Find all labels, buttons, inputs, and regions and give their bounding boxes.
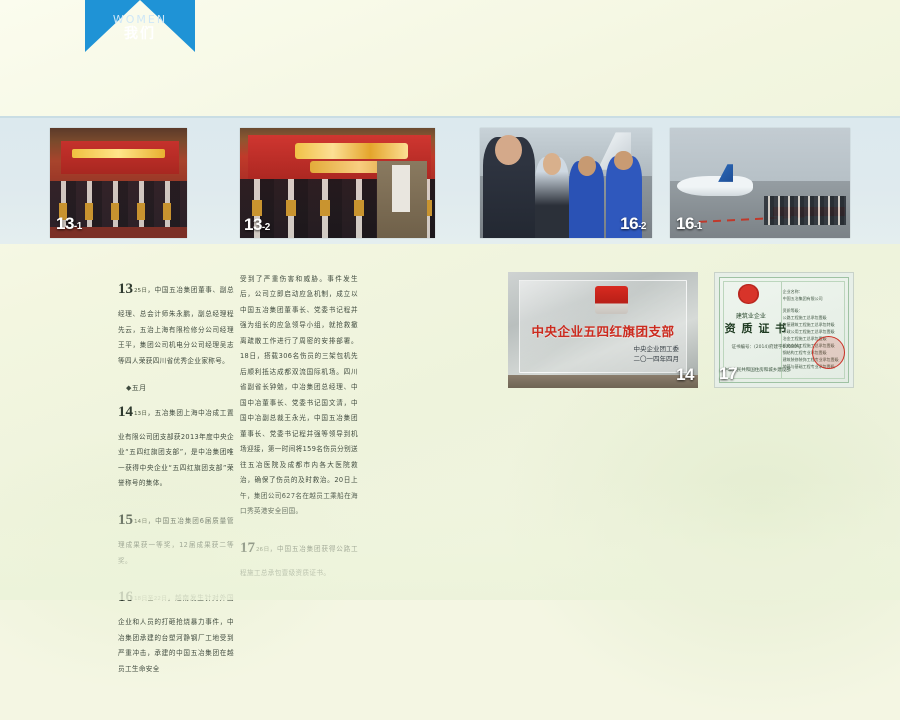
entry-day-suffix: 14日 (134, 519, 148, 525)
photo-airport-tarmac: 16-1 (670, 128, 850, 238)
national-emblem-icon (738, 284, 759, 303)
certificate-company-label: 企业名称： (783, 288, 846, 295)
photo-honor-plaque: 中央企业五四红旗团支部 中央企业团工委 二〇一四年四月 14 (508, 272, 698, 388)
entry-body-text: ，中国五冶集团董事、副总经理、总会计师朱永鹏，副总经理程先云，五治上海有限检修分… (118, 286, 234, 365)
entry-paragraph: 1413日，五冶集团上海中冶成工置业有限公司团支部获2013年度中央企业“五四红… (118, 395, 234, 492)
entry-day-number: 15 (118, 512, 133, 528)
banner-text-group: WOMEN 我们 (85, 14, 195, 41)
photo2-gold-headline (295, 143, 408, 158)
entry-day-number: 14 (118, 404, 133, 420)
entry-day-suffix: 26日 (256, 547, 270, 553)
photo1-red-backdrop (61, 141, 179, 174)
plaque-youth-league-emblem (595, 286, 627, 314)
certificate-red-stamp (812, 336, 845, 369)
plaque-issuer-text: 中央企业团工委 二〇一四年四月 (634, 345, 680, 365)
diary-entry: 受到了严重伤害和威胁。事件发生后，公司立即启动应急机制，成立以中国五冶集团董事长… (240, 272, 358, 520)
photo4-sky (670, 128, 850, 183)
photo-caption-16-2: 16-2 (620, 214, 646, 234)
entry-body-text: 受到了严重伤害和威胁。事件发生后，公司立即启动应急机制，成立以中国五冶集团董事长… (240, 275, 358, 515)
entry-day-suffix: 18日至22日 (134, 596, 168, 602)
certificate-grade-label: 资质等级： (783, 307, 846, 314)
entry-paragraph: 受到了严重伤害和威胁。事件发生后，公司立即启动应急机制，成立以中国五冶集团董事长… (240, 272, 358, 520)
diary-entry: 1618日至22日，越南发生针对外国企业和人员的打砸抢烧暴力事件，中冶集团承建的… (118, 580, 234, 677)
photo2-foreground-shirt (392, 165, 410, 211)
photo-caption-13-2: 13-2 (244, 215, 270, 235)
photo-caption-14: 14 (676, 365, 694, 385)
photo3-person-official (535, 157, 569, 238)
diary-entry: 1325日，中国五冶集团董事、副总经理、总会计师朱永鹏，副总经理程先云，五治上海… (118, 272, 234, 369)
photo-airport-greeting: 16-2 (480, 128, 652, 238)
certificate-grade-line: 房屋建筑工程施工总承包特级 (783, 321, 846, 328)
entry-body-text: ，五冶集团上海中冶成工置业有限公司团支部获2013年度中央企业“五四红旗团支部”… (118, 409, 234, 488)
entry-day-suffix: 13日 (134, 411, 147, 417)
photo-award-ceremony-2: 13-2 (240, 128, 435, 238)
entry-day-number: 16 (118, 589, 133, 605)
diary-entry: 1514日，中国五冶集团6届质量管理成果获一等奖，12届成果获二等奖。 (118, 503, 234, 569)
entry-day-suffix: 25日 (134, 288, 147, 294)
photo-award-ceremony-1: 13-1 (50, 128, 187, 238)
entry-body-text: ，越南发生针对外国企业和人员的打砸抢烧暴力事件，中冶集团承建的台塑河静钢厂工地受… (118, 594, 234, 673)
text-column-left: 1325日，中国五冶集团董事、副总经理、总会计师朱永鹏，副总经理程先云，五治上海… (118, 272, 234, 688)
section-banner: WOMEN 我们 (85, 0, 195, 58)
plaque-issuer-line1: 中央企业团工委 (634, 345, 680, 355)
entry-paragraph: 1726日，中国五冶集团获得公路工程施工总承包壹级资质证书。 (240, 531, 358, 582)
entry-paragraph: 1325日，中国五冶集团董事、副总经理、总会计师朱永鹏，副总经理程先云，五治上海… (118, 272, 234, 369)
photo3-person-leader (483, 137, 535, 238)
entry-paragraph: 1618日至22日，越南发生针对外国企业和人员的打砸抢烧暴力事件，中冶集团承建的… (118, 580, 234, 677)
photo4-airplane (677, 176, 753, 196)
page-root: WOMEN 我们 13-1 13-2 16-2 (0, 0, 900, 600)
certificate-title: 资 质 证 书 (725, 320, 777, 336)
entry-day-number: 17 (240, 540, 255, 556)
photo4-welcome-crowd (764, 196, 847, 225)
plaque-issuer-line2: 二〇一四年四月 (634, 355, 680, 365)
certificate-grade-line: 公路工程施工总承包壹级 (783, 314, 846, 321)
text-column-right: 受到了严重伤害和威胁。事件发生后，公司立即启动应急机制，成立以中国五冶集团董事长… (240, 272, 358, 592)
entry-paragraph: 1514日，中国五冶集团6届质量管理成果获一等奖，12届成果获二等奖。 (118, 503, 234, 569)
plaque-wood-frame (508, 375, 698, 388)
photo1-gold-text-band (72, 149, 165, 158)
diary-entry: 1726日，中国五冶集团获得公路工程施工总承包壹级资质证书。 (240, 531, 358, 582)
banner-english-label: WOMEN (85, 14, 195, 26)
photo-caption-16-1: 16-1 (676, 214, 702, 234)
plaque-title-text: 中央企业五四红旗团支部 (523, 321, 683, 340)
certificate-grade-line: 市政公用工程施工总承包壹级 (783, 328, 846, 335)
photo-caption-13-1: 13-1 (56, 214, 82, 234)
banner-chinese-label: 我们 (85, 27, 195, 42)
certificate-small-title: 建筑业企业 (729, 311, 773, 320)
photo3-worker-1 (569, 161, 603, 238)
certificate-company-value: 中国五冶集团有限公司 (783, 295, 846, 302)
photo-qualification-certificate: 建筑业企业 资 质 证 书 证书编号：(2014)府建字00000号 中华人民共… (714, 272, 854, 388)
diary-entry: ◆五月1413日，五冶集团上海中冶成工置业有限公司团支部获2013年度中央企业“… (118, 380, 234, 492)
photo-caption-17: 17 (719, 364, 737, 384)
entry-day-number: 13 (118, 281, 133, 297)
